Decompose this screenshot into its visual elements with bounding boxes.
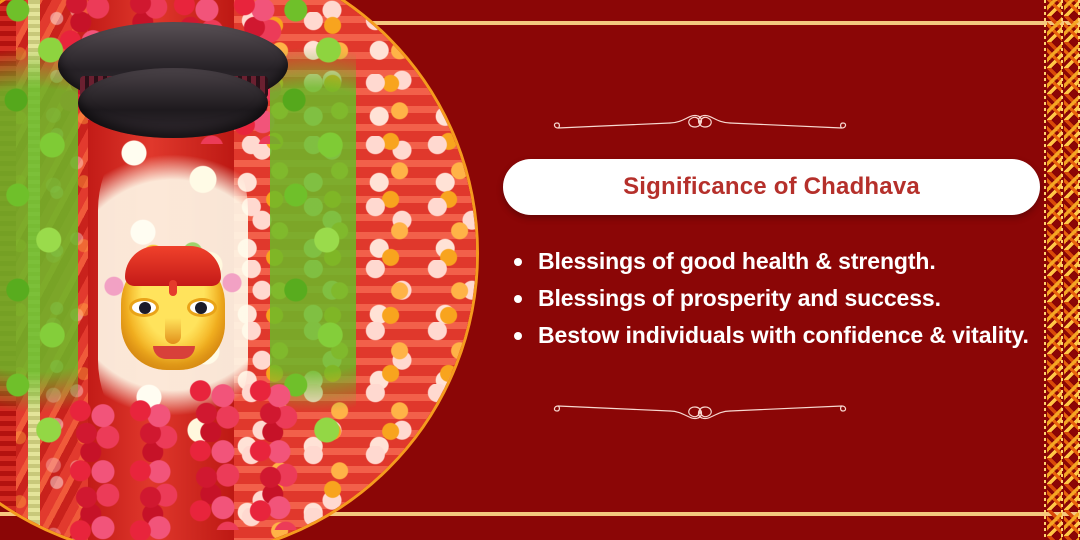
deity-mouth — [153, 346, 195, 359]
flourish-divider-bottom-icon — [550, 396, 850, 430]
title-pill: Significance of Chadhava — [503, 159, 1040, 215]
border-dotted-line — [1044, 0, 1046, 540]
flower-cluster — [186, 380, 306, 530]
list-item: Bestow individuals with confidence & vit… — [503, 317, 1043, 354]
border-zigzag-band — [1064, 0, 1079, 540]
ethnic-border-right — [1044, 0, 1080, 540]
deity-tilak — [169, 280, 177, 296]
flower-cluster — [66, 400, 186, 540]
flourish-divider-top-icon — [550, 104, 850, 138]
border-zigzag-band — [1047, 0, 1062, 540]
border-dotted-line — [1061, 0, 1063, 540]
deity-pupil-left — [139, 302, 151, 314]
slide-canvas: Significance of Chadhava Blessings of go… — [0, 0, 1080, 540]
page-title: Significance of Chadhava — [623, 173, 920, 201]
deity-pupil-right — [195, 302, 207, 314]
deity-photo-circle — [0, 0, 479, 540]
deity-face — [109, 246, 237, 382]
list-item: Blessings of prosperity and success. — [503, 280, 1043, 317]
bullet-list: Blessings of good health & strength. Ble… — [503, 243, 1043, 354]
list-item: Blessings of good health & strength. — [503, 243, 1043, 280]
deity-photo — [0, 0, 476, 540]
content-column: Significance of Chadhava Blessings of go… — [490, 0, 1046, 540]
deity-nose — [165, 318, 181, 344]
